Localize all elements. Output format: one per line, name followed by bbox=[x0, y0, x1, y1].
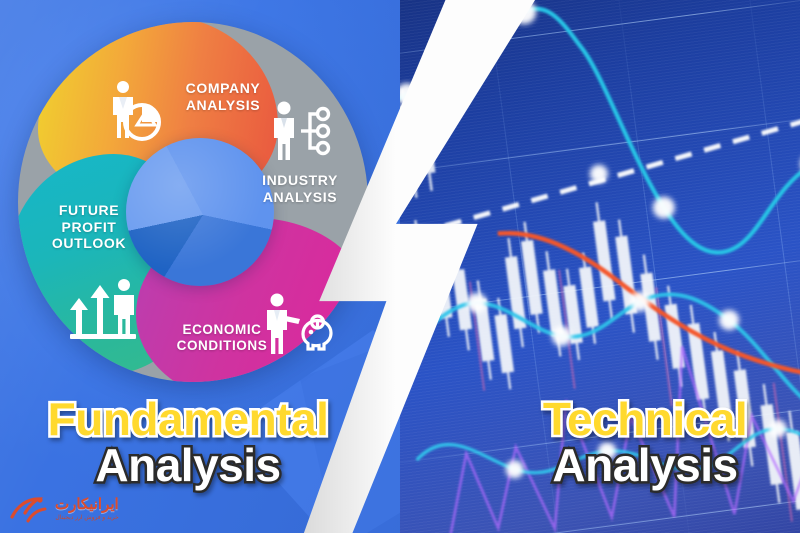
label-line: ECONOMIC bbox=[156, 322, 288, 338]
fundamental-title-block: Fundamental Analysis bbox=[10, 396, 366, 490]
watermark: ایرانیکارت خرید و فروش ارز دیجیتال bbox=[6, 487, 138, 531]
watermark-brand: ایرانیکارت bbox=[55, 497, 119, 512]
fundamental-title-top: Fundamental bbox=[10, 396, 366, 443]
technical-title-block: Technical Analysis bbox=[490, 396, 800, 490]
label-line: ANALYSIS bbox=[240, 189, 360, 206]
image-canvas: COMPANY ANALYSIS bbox=[0, 0, 800, 533]
label-line: FUTURE bbox=[34, 202, 144, 219]
growth-arrows-person-icon bbox=[66, 274, 142, 345]
label-line: COMPANY bbox=[163, 80, 283, 97]
segment-label-industry-analysis: INDUSTRY ANALYSIS bbox=[240, 172, 360, 205]
fundamental-title-bottom: Analysis bbox=[10, 441, 366, 490]
segment-label-future-profit-outlook: FUTURE PROFIT OUTLOOK bbox=[34, 202, 144, 252]
fundamental-diagram: COMPANY ANALYSIS bbox=[18, 22, 368, 382]
businessman-pie-chart-icon bbox=[106, 80, 164, 147]
label-line: ANALYSIS bbox=[163, 97, 283, 114]
segment-center-core bbox=[126, 138, 274, 286]
segment-label-company-analysis: COMPANY ANALYSIS bbox=[163, 80, 283, 113]
segment-label-economic-conditions: ECONOMIC CONDITIONS bbox=[156, 322, 288, 354]
watermark-logo-icon bbox=[6, 491, 50, 527]
label-line: CONDITIONS bbox=[156, 338, 288, 354]
watermark-tagline: خرید و فروش ارز دیجیتال bbox=[55, 515, 119, 521]
person-org-chart-icon bbox=[270, 100, 340, 167]
label-line: INDUSTRY bbox=[240, 172, 360, 189]
label-line: OUTLOOK bbox=[34, 235, 144, 252]
technical-title-bottom: Analysis bbox=[490, 441, 800, 490]
label-line: PROFIT bbox=[34, 219, 144, 236]
orange-trendline bbox=[498, 190, 800, 424]
technical-title-top: Technical bbox=[490, 396, 800, 443]
